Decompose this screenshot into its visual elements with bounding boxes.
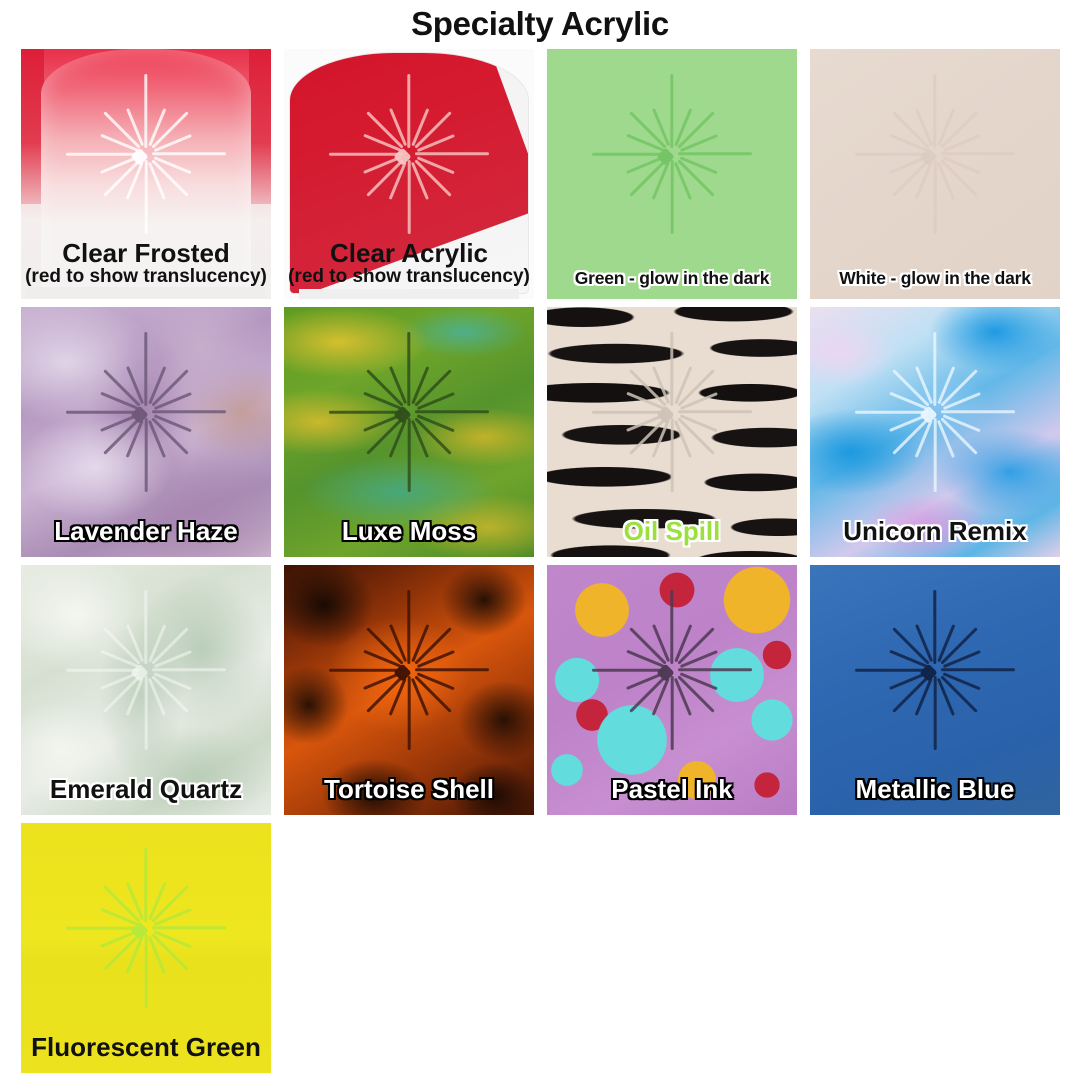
- swatch-name: Clear Frosted: [25, 240, 267, 267]
- swatch-tile-pastel-ink[interactable]: Pastel Ink: [547, 565, 797, 815]
- swatch-name: Tortoise Shell: [288, 776, 530, 803]
- swatch-name: Green - glow in the dark: [551, 269, 793, 287]
- swatch-subtitle: (red to show translucency): [288, 267, 530, 287]
- swatch-label-fluorescent-green: Fluorescent Green: [21, 1034, 271, 1061]
- swatch-label-tortoise-shell: Tortoise Shell: [284, 776, 534, 803]
- swatch-name: Luxe Moss: [288, 518, 530, 545]
- swatch-label-green-glow-in-the-dark: Green - glow in the dark: [547, 269, 797, 287]
- swatch-tile-emerald-quartz[interactable]: Emerald Quartz: [21, 565, 271, 815]
- swatch-name: Oil Spill: [551, 518, 793, 545]
- swatch-subtitle: (red to show translucency): [25, 267, 267, 287]
- swatch-label-lavender-haze: Lavender Haze: [21, 518, 271, 545]
- acrylic-base: [299, 289, 519, 299]
- swatch-label-pastel-ink: Pastel Ink: [547, 776, 797, 803]
- swatch-label-clear-frosted: Clear Frosted(red to show translucency): [21, 240, 271, 287]
- swatch-grid: Clear Frosted(red to show translucency)C…: [21, 49, 1059, 1073]
- swatch-tile-unicorn-remix[interactable]: Unicorn Remix: [810, 307, 1060, 557]
- swatch-tile-luxe-moss[interactable]: Luxe Moss: [284, 307, 534, 557]
- swatch-name: Lavender Haze: [25, 518, 267, 545]
- specialty-acrylic-swatch-board: Specialty Acrylic Clear Frosted(red to s…: [0, 0, 1080, 1080]
- swatch-tile-lavender-haze[interactable]: Lavender Haze: [21, 307, 271, 557]
- swatch-name: Metallic Blue: [814, 776, 1056, 803]
- swatch-name: White - glow in the dark: [814, 269, 1056, 287]
- swatch-label-clear-acrylic: Clear Acrylic(red to show translucency): [284, 240, 534, 287]
- swatch-name: Clear Acrylic: [288, 240, 530, 267]
- swatch-tile-clear-frosted[interactable]: Clear Frosted(red to show translucency): [21, 49, 271, 299]
- swatch-tile-green-glow-in-the-dark[interactable]: Green - glow in the dark: [547, 49, 797, 299]
- swatch-tile-oil-spill[interactable]: Oil Spill: [547, 307, 797, 557]
- frosted-base: [26, 287, 266, 300]
- swatch-name: Emerald Quartz: [25, 776, 267, 803]
- swatch-tile-clear-acrylic[interactable]: Clear Acrylic(red to show translucency): [284, 49, 534, 299]
- swatch-name: Pastel Ink: [551, 776, 793, 803]
- swatch-name: Fluorescent Green: [25, 1034, 267, 1061]
- swatch-label-oil-spill: Oil Spill: [547, 518, 797, 545]
- swatch-tile-white-glow-in-the-dark[interactable]: White - glow in the dark: [810, 49, 1060, 299]
- swatch-label-metallic-blue: Metallic Blue: [810, 776, 1060, 803]
- swatch-tile-tortoise-shell[interactable]: Tortoise Shell: [284, 565, 534, 815]
- swatch-label-emerald-quartz: Emerald Quartz: [21, 776, 271, 803]
- swatch-tile-metallic-blue[interactable]: Metallic Blue: [810, 565, 1060, 815]
- swatch-label-unicorn-remix: Unicorn Remix: [810, 518, 1060, 545]
- swatch-label-white-glow-in-the-dark: White - glow in the dark: [810, 269, 1060, 287]
- page-title: Specialty Acrylic: [0, 0, 1080, 44]
- swatch-label-luxe-moss: Luxe Moss: [284, 518, 534, 545]
- frosted-red-right: [249, 49, 272, 204]
- swatch-tile-fluorescent-green[interactable]: Fluorescent Green: [21, 823, 271, 1073]
- swatch-name: Unicorn Remix: [814, 518, 1056, 545]
